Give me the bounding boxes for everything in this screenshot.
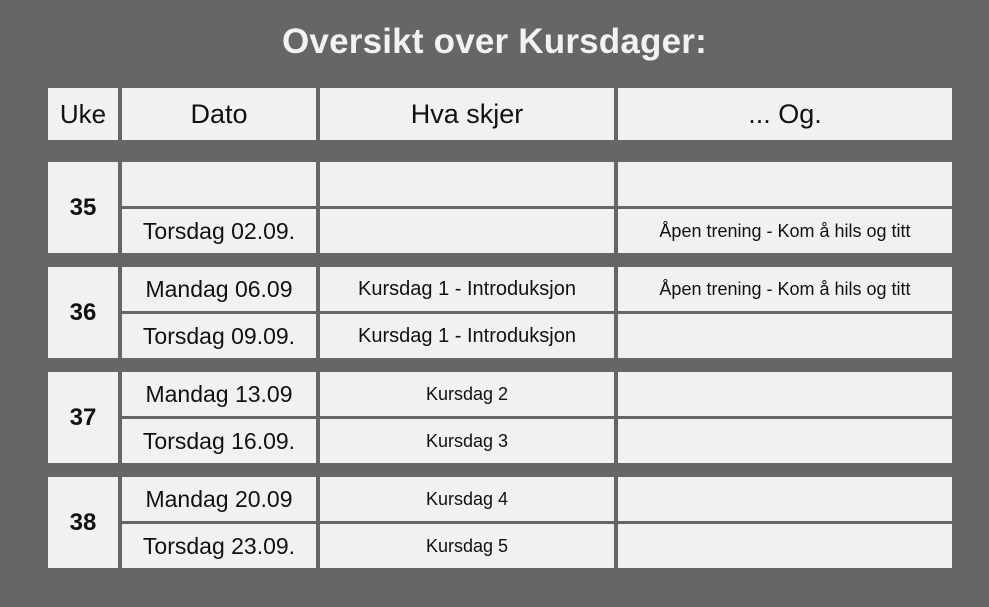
week-rows: Torsdag 02.09. Åpen trening - Kom å hils… <box>122 162 952 253</box>
schedule-table: Uke Dato Hva skjer ... Og. 35 <box>48 88 940 568</box>
cell-hva-skjer: Kursdag 4 <box>320 477 614 521</box>
column-header-uke: Uke <box>48 88 118 140</box>
week-rows: Mandag 06.09 Kursdag 1 - Introduksjon Åp… <box>122 267 952 358</box>
week-group-gap <box>48 253 940 267</box>
table-row: Torsdag 23.09. Kursdag 5 <box>122 524 952 568</box>
cell-hva-skjer <box>320 209 614 253</box>
cell-dato: Torsdag 02.09. <box>122 209 316 253</box>
cell-hva-skjer: Kursdag 1 - Introduksjon <box>320 314 614 358</box>
table-row: Torsdag 09.09. Kursdag 1 - Introduksjon <box>122 314 952 358</box>
cell-og <box>618 372 952 416</box>
week-rows: Mandag 20.09 Kursdag 4 Torsdag 23.09. Ku… <box>122 477 952 568</box>
week-number-cell: 35 <box>48 162 118 253</box>
table-header-row: Uke Dato Hva skjer ... Og. <box>48 88 940 140</box>
cell-dato: Mandag 06.09 <box>122 267 316 311</box>
week-rows: Mandag 13.09 Kursdag 2 Torsdag 16.09. Ku… <box>122 372 952 463</box>
week-group-gap <box>48 358 940 372</box>
table-row: Torsdag 16.09. Kursdag 3 <box>122 419 952 463</box>
cell-og <box>618 419 952 463</box>
cell-dato: Mandag 13.09 <box>122 372 316 416</box>
column-header-dato: Dato <box>122 88 316 140</box>
cell-dato <box>122 162 316 206</box>
cell-og: Åpen trening - Kom å hils og titt <box>618 267 952 311</box>
column-header-og: ... Og. <box>618 88 952 140</box>
cell-og <box>618 162 952 206</box>
week-group-gap <box>48 463 940 477</box>
week-number-cell: 38 <box>48 477 118 568</box>
cell-dato: Mandag 20.09 <box>122 477 316 521</box>
cell-hva-skjer <box>320 162 614 206</box>
table-row <box>122 162 952 206</box>
table-row: Mandag 20.09 Kursdag 4 <box>122 477 952 521</box>
week-group: 38 Mandag 20.09 Kursdag 4 Torsdag 23.09.… <box>48 477 940 568</box>
cell-hva-skjer: Kursdag 1 - Introduksjon <box>320 267 614 311</box>
table-row: Torsdag 02.09. Åpen trening - Kom å hils… <box>122 209 952 253</box>
cell-og <box>618 524 952 568</box>
cell-og: Åpen trening - Kom å hils og titt <box>618 209 952 253</box>
cell-dato: Torsdag 09.09. <box>122 314 316 358</box>
schedule-page: Oversikt over Kursdager: Uke Dato Hva sk… <box>0 0 989 607</box>
page-title: Oversikt over Kursdager: <box>0 22 989 62</box>
table-row: Mandag 06.09 Kursdag 1 - Introduksjon Åp… <box>122 267 952 311</box>
table-row: Mandag 13.09 Kursdag 2 <box>122 372 952 416</box>
cell-hva-skjer: Kursdag 2 <box>320 372 614 416</box>
cell-og <box>618 477 952 521</box>
week-group: 35 Torsdag 02.09. Åpen trening - Kom å h… <box>48 162 940 253</box>
week-group: 36 Mandag 06.09 Kursdag 1 - Introduksjon… <box>48 267 940 358</box>
header-gap <box>48 140 940 162</box>
week-number-cell: 36 <box>48 267 118 358</box>
cell-dato: Torsdag 23.09. <box>122 524 316 568</box>
cell-hva-skjer: Kursdag 5 <box>320 524 614 568</box>
week-group: 37 Mandag 13.09 Kursdag 2 Torsdag 16.09.… <box>48 372 940 463</box>
cell-hva-skjer: Kursdag 3 <box>320 419 614 463</box>
cell-og <box>618 314 952 358</box>
cell-dato: Torsdag 16.09. <box>122 419 316 463</box>
column-header-hva-skjer: Hva skjer <box>320 88 614 140</box>
week-number-cell: 37 <box>48 372 118 463</box>
